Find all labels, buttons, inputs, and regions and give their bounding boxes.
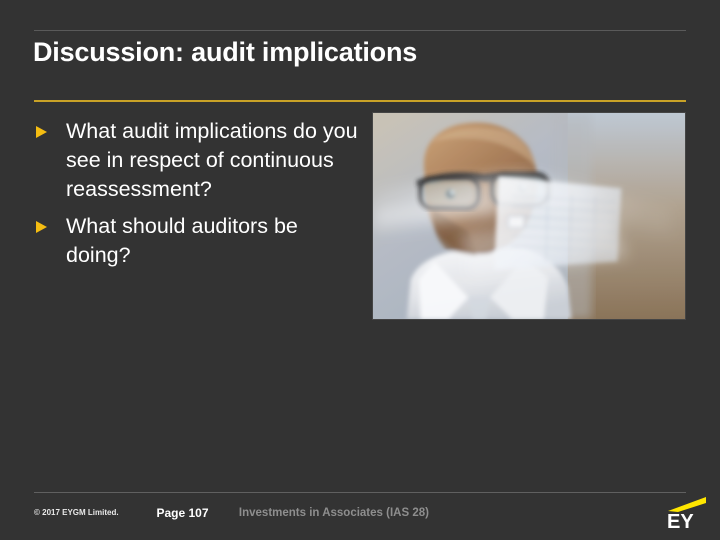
page-title: Discussion: audit implications <box>33 36 673 68</box>
footer-divider <box>34 492 686 493</box>
svg-text:EY: EY <box>667 511 694 532</box>
header-divider <box>34 30 686 31</box>
ey-logo: EY <box>664 492 710 532</box>
list-item-text: What should auditors be doing? <box>66 214 298 267</box>
list-item: What should auditors be doing? <box>30 212 360 270</box>
list-item-text: What audit implications do you see in re… <box>66 119 358 201</box>
copyright-text: © 2017 EYGM Limited. <box>34 508 152 517</box>
slide-photo <box>372 112 686 320</box>
ey-beam-icon <box>668 497 706 512</box>
triangle-bullet-icon <box>36 126 47 138</box>
triangle-bullet-icon <box>36 221 47 233</box>
slide: Discussion: audit implications What audi… <box>0 0 720 540</box>
deck-name: Investments in Associates (IAS 28) <box>239 507 429 519</box>
footer: © 2017 EYGM Limited. Page 107 Investment… <box>34 504 634 524</box>
page-number: Page 107 <box>156 506 234 520</box>
title-accent-divider <box>34 100 686 102</box>
list-item: What audit implications do you see in re… <box>30 117 360 204</box>
bullet-list: What audit implications do you see in re… <box>30 117 360 278</box>
